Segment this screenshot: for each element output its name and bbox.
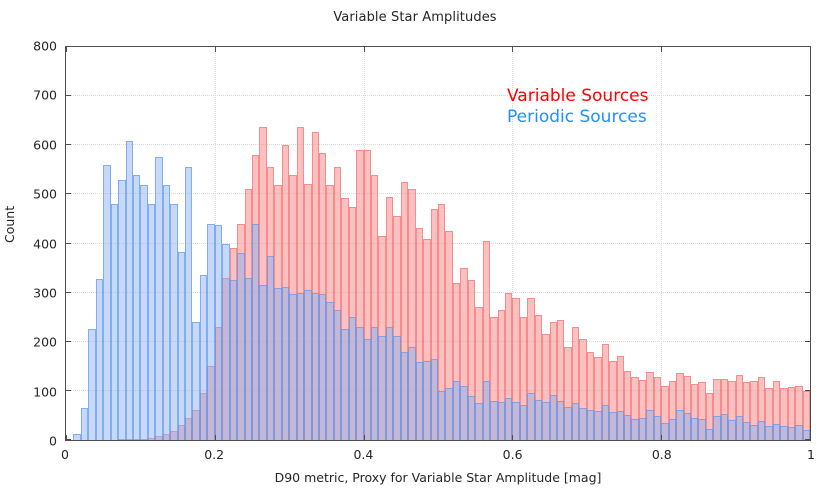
histogram-bar — [423, 361, 430, 440]
y-tick-mark — [66, 193, 71, 194]
histogram-bar — [550, 395, 557, 440]
y-tick-mark — [66, 95, 71, 96]
histogram-bar — [111, 204, 118, 440]
histogram-bar — [297, 293, 304, 440]
histogram-bar — [267, 256, 274, 440]
histogram-bar — [408, 347, 415, 440]
histogram-bar — [587, 410, 594, 440]
histogram-bar — [282, 287, 289, 440]
histogram-bar — [163, 185, 170, 440]
histogram-bar — [624, 415, 631, 440]
histogram-bar — [133, 175, 140, 440]
histogram-bar — [178, 252, 185, 440]
histogram-bar — [88, 329, 95, 440]
legend: Variable Sources Periodic Sources — [507, 86, 648, 128]
x-tick-mark — [215, 435, 216, 440]
histogram-bar — [743, 422, 750, 440]
x-tick-mark-top — [512, 47, 513, 52]
histogram-bar — [386, 327, 393, 440]
histogram-bar — [140, 185, 147, 440]
histogram-bar — [795, 425, 802, 440]
x-tick-label: 1 — [781, 447, 830, 462]
histogram-bar — [401, 352, 408, 440]
histogram-bar — [631, 419, 638, 440]
x-tick-label: 0.8 — [632, 447, 692, 462]
histogram-bar — [371, 327, 378, 440]
histogram-bar — [438, 391, 445, 440]
histogram-bar — [96, 279, 103, 440]
histogram-bar — [512, 402, 519, 440]
histogram-bar — [579, 408, 586, 440]
y-tick-label: 700 — [11, 88, 57, 103]
histogram-bar — [788, 427, 795, 440]
histogram-bar — [326, 302, 333, 440]
legend-item-periodic-sources: Periodic Sources — [507, 107, 648, 128]
y-axis-label: Count — [2, 206, 17, 243]
histogram-bar — [483, 381, 490, 440]
histogram-bar — [750, 425, 757, 440]
y-tick-label: 500 — [11, 187, 57, 202]
histogram-bar — [393, 336, 400, 440]
histogram-figure: Variable Star Amplitudes 010020030040050… — [0, 0, 830, 494]
x-tick-mark-top — [215, 47, 216, 52]
histogram-bar — [661, 423, 668, 440]
histogram-bar — [773, 424, 780, 440]
y-tick-mark — [66, 390, 71, 391]
x-tick-mark-top — [661, 47, 662, 52]
x-axis-label: D90 metric, Proxy for Variable Star Ampl… — [65, 470, 811, 485]
histogram-bar — [490, 401, 497, 440]
histogram-bar — [126, 141, 133, 440]
histogram-bar — [542, 402, 549, 440]
x-tick-mark-top — [810, 47, 811, 52]
histogram-bar — [364, 339, 371, 440]
x-tick-label: 0.6 — [483, 447, 543, 462]
histogram-bar — [103, 165, 110, 440]
histogram-bar — [200, 275, 207, 440]
histogram-bar — [676, 410, 683, 440]
histogram-bar — [237, 253, 244, 440]
histogram-bar — [252, 224, 259, 440]
histogram-bar — [460, 386, 467, 440]
histogram-bar — [81, 408, 88, 440]
periodic-sources-bars — [66, 47, 810, 440]
x-tick-mark — [512, 435, 513, 440]
histogram-bar — [274, 288, 281, 440]
histogram-bar — [245, 278, 252, 440]
histogram-bar — [222, 244, 229, 441]
histogram-bar — [698, 419, 705, 440]
x-tick-label: 0 — [35, 447, 95, 462]
histogram-bar — [527, 393, 534, 440]
y-tick-label: 100 — [11, 384, 57, 399]
histogram-bar — [349, 317, 356, 440]
histogram-bar — [564, 407, 571, 440]
y-tick-label: 300 — [11, 285, 57, 300]
histogram-bar — [416, 362, 423, 440]
histogram-bar — [73, 434, 80, 440]
histogram-bar — [617, 411, 624, 440]
histogram-bar — [148, 204, 155, 440]
histogram-bar — [780, 426, 787, 440]
histogram-bar — [691, 418, 698, 440]
histogram-bar — [356, 327, 363, 440]
y-tick-mark-right — [805, 95, 810, 96]
histogram-bar — [207, 224, 214, 440]
y-tick-label: 800 — [11, 39, 57, 54]
histogram-bar — [505, 398, 512, 440]
histogram-bar — [758, 421, 765, 440]
histogram-bar — [304, 290, 311, 440]
histogram-bar — [765, 426, 772, 440]
y-tick-mark — [66, 243, 71, 244]
histogram-bar — [646, 410, 653, 440]
histogram-bar — [639, 418, 646, 440]
histogram-bar — [215, 225, 222, 440]
histogram-bar — [259, 285, 266, 440]
y-tick-label: 400 — [11, 236, 57, 251]
histogram-bar — [557, 401, 564, 440]
x-tick-label: 0.4 — [333, 447, 393, 462]
histogram-bar — [609, 412, 616, 440]
histogram-bar — [654, 416, 661, 440]
histogram-bar — [289, 294, 296, 440]
histogram-bar — [684, 413, 691, 441]
histogram-bar — [453, 381, 460, 440]
histogram-bar — [468, 396, 475, 440]
histogram-bar — [341, 329, 348, 440]
y-tick-mark-right — [805, 341, 810, 342]
histogram-bar — [170, 204, 177, 440]
histogram-bar — [155, 157, 162, 440]
histogram-bar — [312, 293, 319, 440]
y-tick-mark — [66, 144, 71, 145]
histogram-bar — [706, 429, 713, 440]
histogram-bar — [192, 322, 199, 440]
histogram-bar — [431, 359, 438, 440]
y-tick-mark-right — [805, 144, 810, 145]
histogram-bar — [445, 388, 452, 440]
y-tick-mark-right — [805, 243, 810, 244]
histogram-bar — [594, 411, 601, 440]
histogram-bar — [669, 419, 676, 440]
x-tick-mark — [66, 435, 67, 440]
plot-area — [65, 46, 811, 441]
histogram-bar — [118, 180, 125, 440]
y-tick-label: 200 — [11, 335, 57, 350]
histogram-bar — [520, 405, 527, 440]
x-tick-mark — [810, 435, 811, 440]
y-tick-mark-right — [805, 193, 810, 194]
x-tick-mark — [364, 435, 365, 440]
y-tick-mark-right — [805, 292, 810, 293]
histogram-bar — [185, 167, 192, 440]
histogram-bar — [736, 416, 743, 440]
y-tick-mark-right — [805, 390, 810, 391]
histogram-bar — [319, 294, 326, 440]
histogram-bar — [475, 403, 482, 440]
x-tick-mark-top — [364, 47, 365, 52]
histogram-bar — [535, 400, 542, 440]
x-tick-mark — [661, 435, 662, 440]
histogram-bar — [334, 310, 341, 440]
histogram-bar — [721, 414, 728, 440]
histogram-bar — [498, 402, 505, 440]
histogram-bar — [728, 420, 735, 440]
page-title: Variable Star Amplitudes — [0, 10, 830, 25]
y-tick-mark — [66, 341, 71, 342]
histogram-bar — [713, 416, 720, 440]
histogram-bar — [602, 405, 609, 440]
histogram-bar — [230, 280, 237, 440]
x-tick-mark-top — [66, 47, 67, 52]
x-tick-label: 0.2 — [184, 447, 244, 462]
histogram-bar — [378, 336, 385, 440]
histogram-bar — [572, 403, 579, 440]
legend-item-variable-sources: Variable Sources — [507, 86, 648, 107]
y-tick-mark — [66, 292, 71, 293]
y-tick-label: 600 — [11, 137, 57, 152]
